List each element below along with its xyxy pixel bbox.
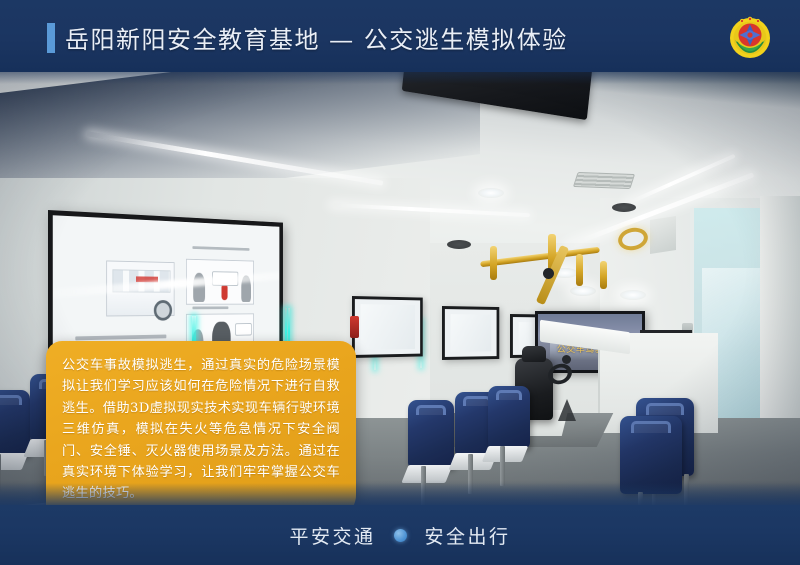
page-footer: 平安交通 安全出行 xyxy=(0,505,800,565)
page-title: 岳阳新阳安全教育基地 — 公交逃生模拟体验 xyxy=(65,20,568,55)
footer-separator-dot-icon xyxy=(394,529,407,542)
footer-slogan-right: 安全出行 xyxy=(425,522,511,549)
footer-slogan-left: 平安交通 xyxy=(289,522,375,549)
header-accent-bar xyxy=(47,23,55,53)
page-header: 岳阳新阳安全教育基地 — 公交逃生模拟体验 xyxy=(0,0,800,72)
traffic-police-emblem-icon xyxy=(724,10,776,62)
slide-page: 岳阳新阳安全教育基地 — 公交逃生模拟体验 xyxy=(0,0,800,565)
